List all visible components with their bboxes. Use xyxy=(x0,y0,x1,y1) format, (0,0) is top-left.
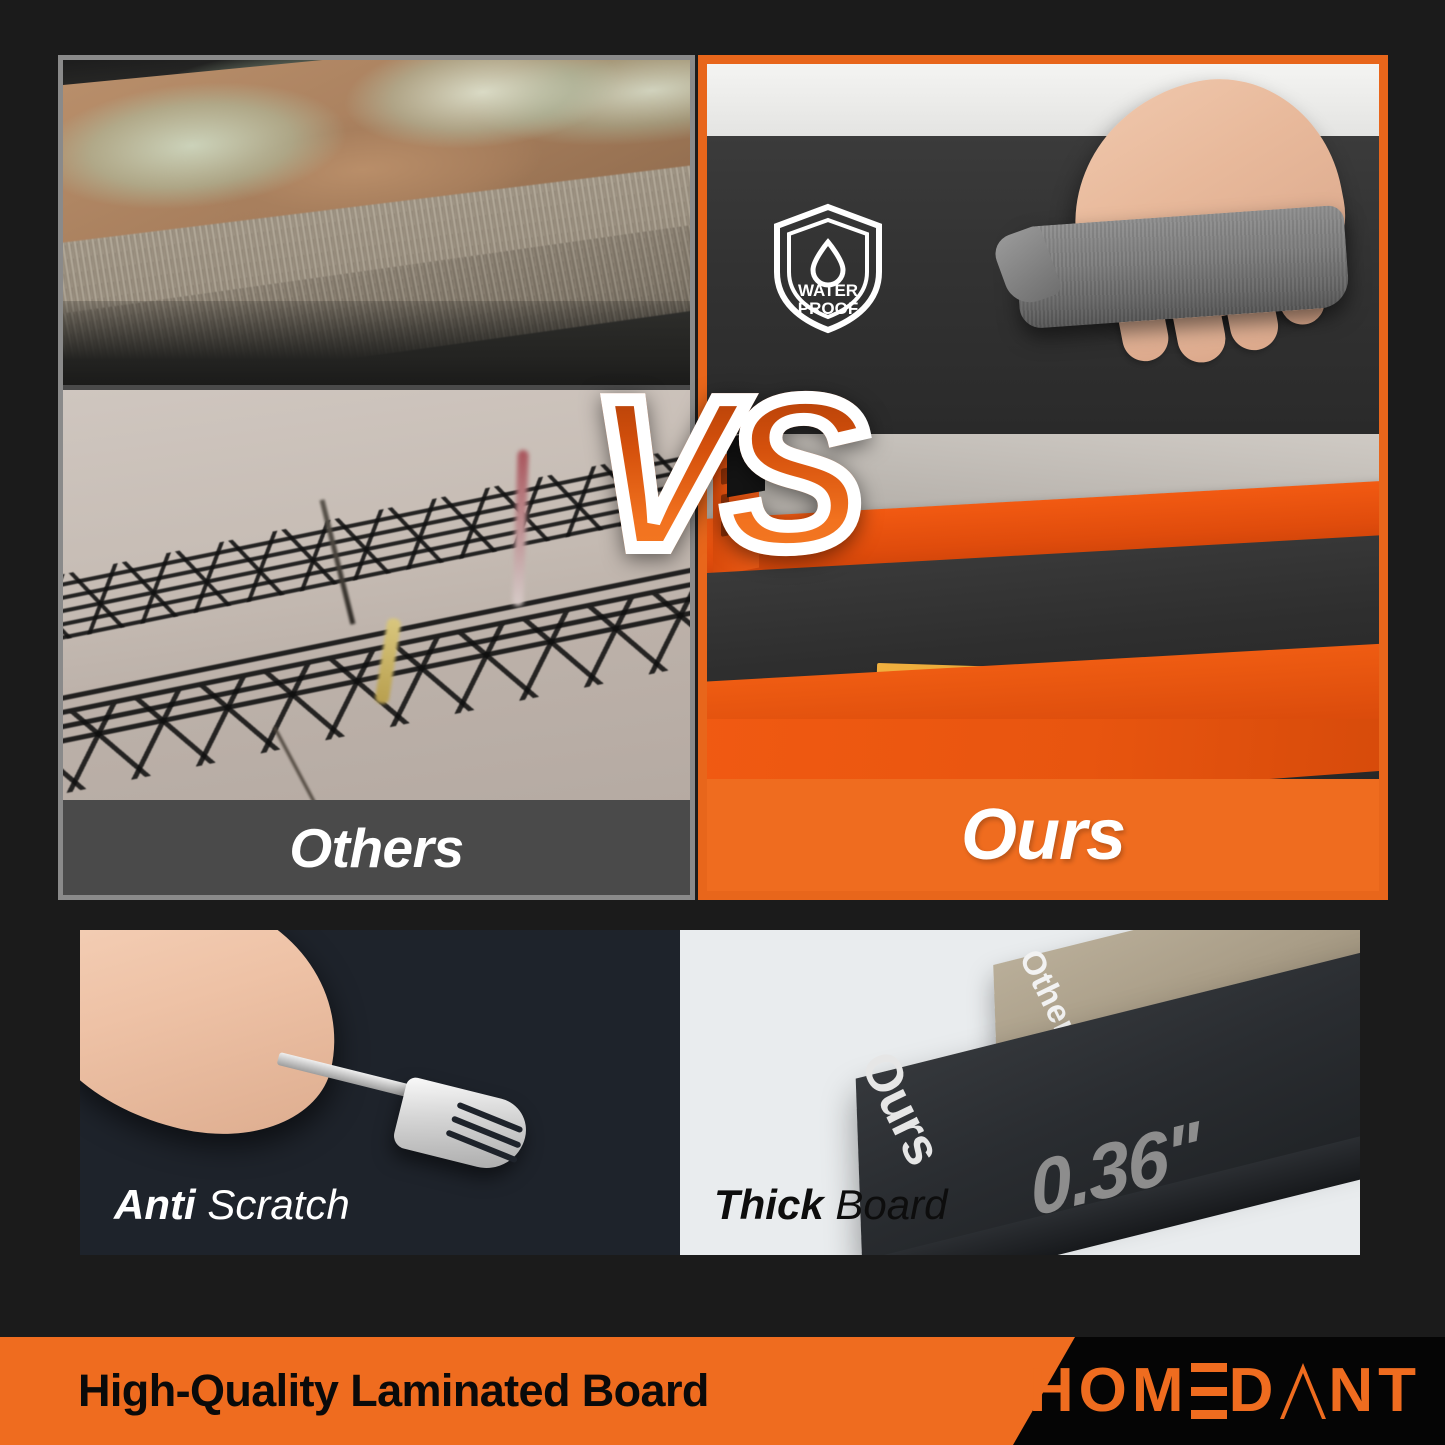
anti-scratch-label: Anti Scratch xyxy=(114,1181,350,1229)
waterproof-line1: WATER xyxy=(798,281,858,300)
footer-bar: High-Quality Laminated Board HOM D NT xyxy=(0,1337,1445,1445)
feature-anti-scratch: Anti Scratch xyxy=(80,930,680,1255)
waterproof-line2: PROOF xyxy=(798,299,858,318)
hand xyxy=(80,930,362,1159)
logo-part-hom: HOM xyxy=(1029,1360,1189,1422)
anti-scratch-label-bold: Anti xyxy=(114,1181,196,1228)
others-caption-text: Others xyxy=(289,816,463,880)
photo-water-damaged-board xyxy=(63,60,690,385)
anti-scratch-label-light: Scratch xyxy=(196,1181,350,1228)
thick-board-label-light: Board xyxy=(824,1181,948,1228)
ours-caption-text: Ours xyxy=(961,794,1125,876)
infographic-page: Others W xyxy=(0,0,1445,1445)
logo-part-d: D xyxy=(1229,1360,1279,1422)
logo-glyph-a-triangle-icon xyxy=(1280,1363,1326,1419)
footer-tagline: High-Quality Laminated Board xyxy=(78,1365,709,1417)
logo-part-nt: NT xyxy=(1328,1360,1421,1422)
thick-board-label: Thick Board xyxy=(714,1181,947,1229)
comparison-block: Others W xyxy=(58,55,1388,900)
fork xyxy=(391,1076,533,1177)
vs-badge: VS xyxy=(590,366,857,581)
feature-thick-board: Others Ours 0.36" Thick Board xyxy=(680,930,1360,1255)
ours-caption: Ours xyxy=(707,779,1379,891)
thick-board-label-bold: Thick xyxy=(714,1181,824,1228)
waterproof-shield-icon: WATER PROOF xyxy=(769,202,887,334)
others-caption: Others xyxy=(63,800,690,895)
logo-glyph-e-icon xyxy=(1191,1363,1227,1419)
homedant-logo: HOM D NT xyxy=(1029,1360,1421,1422)
